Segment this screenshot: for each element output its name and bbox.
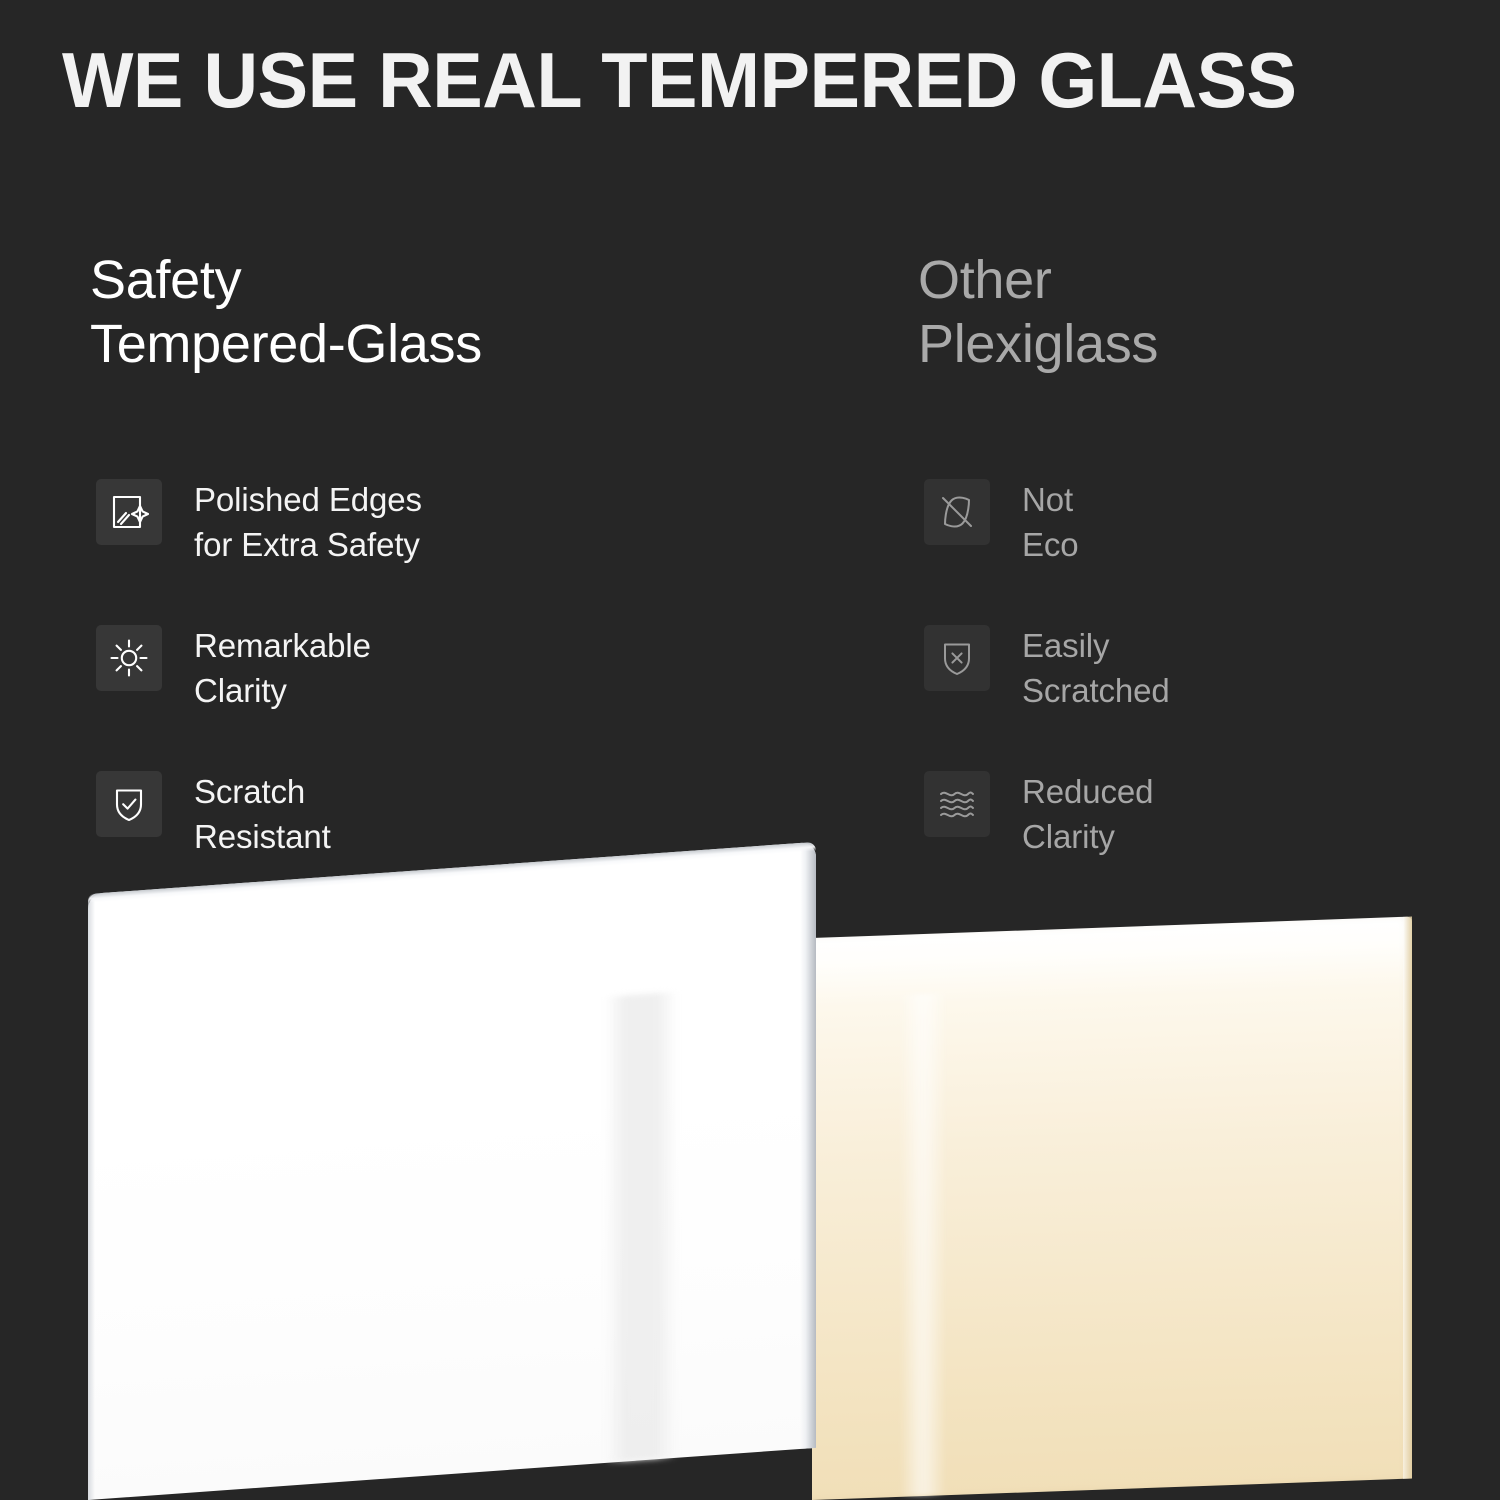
comparison-infographic: WE USE REAL TEMPERED GLASS Safety Temper…: [0, 0, 1500, 1500]
wavy-lines-icon: [924, 771, 990, 837]
feature-row: Polished Edges for Extra Safety: [96, 475, 876, 579]
plexiglass-reflection: [900, 993, 946, 1497]
polished-glass-pane-icon: [96, 479, 162, 545]
plexiglass-edge: [1403, 917, 1412, 1479]
leaf-crossed-out-icon: [924, 479, 990, 545]
column-heading: Other Plexiglass: [918, 248, 1478, 376]
feature-row: Easily Scratched: [924, 621, 1484, 725]
column-heading: Safety Tempered-Glass: [90, 248, 870, 376]
product-comparison-imagery: [0, 860, 1500, 1500]
feature-list: Polished Edges for Extra Safety Remarkab…: [96, 475, 876, 871]
feature-label: Scratch Resistant: [194, 767, 331, 859]
column-safety-tempered-glass: Safety Tempered-Glass Polished Edges for…: [90, 248, 870, 376]
feature-label: Polished Edges for Extra Safety: [194, 475, 422, 567]
sun-brightness-icon: [96, 625, 162, 691]
yellowed-plexiglass-panel: [812, 917, 1412, 1500]
glass-left-polished-edge: [88, 893, 95, 1500]
feature-row: Reduced Clarity: [924, 767, 1484, 871]
feature-row: Remarkable Clarity: [96, 621, 876, 725]
feature-label: Not Eco: [1022, 475, 1079, 567]
feature-label: Easily Scratched: [1022, 621, 1170, 713]
shield-check-icon: [96, 771, 162, 837]
feature-label: Remarkable Clarity: [194, 621, 371, 713]
feature-list: Not Eco Easily Scratched: [924, 475, 1484, 871]
glass-right-polished-edge: [800, 842, 816, 1449]
feature-label: Reduced Clarity: [1022, 767, 1153, 859]
column-other-plexiglass: Other Plexiglass Not Eco: [918, 248, 1478, 376]
shield-x-icon: [924, 625, 990, 691]
feature-row: Not Eco: [924, 475, 1484, 579]
page-title: WE USE REAL TEMPERED GLASS: [62, 37, 1420, 123]
glass-reflection: [604, 992, 678, 1463]
clear-tempered-glass-panel: [88, 842, 816, 1500]
